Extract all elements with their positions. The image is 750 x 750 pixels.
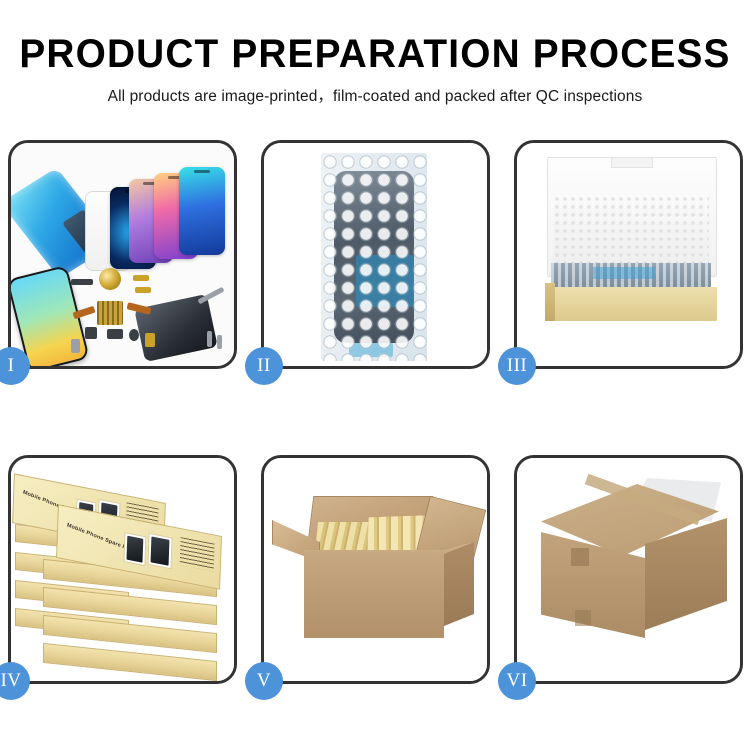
process-step-panel-1[interactable]: I [8, 140, 237, 369]
step-4-image: Mobile Phone Spare Parts Mobile Phone Sp… [11, 458, 234, 681]
step-badge-6: VI [498, 662, 536, 700]
speaker-coil-part [99, 268, 121, 290]
page-header: PRODUCT PREPARATION PROCESS All products… [0, 0, 750, 106]
screw-part-1 [207, 331, 212, 347]
kraft-box-spec-lines-front [180, 537, 215, 571]
step-1-image [11, 143, 234, 366]
step-badge-3: III [498, 347, 536, 385]
carton-tab-upper [571, 548, 589, 566]
phone-display-4 [179, 167, 225, 255]
bubble-wrap-highlights [321, 153, 427, 361]
carton-body-side [444, 542, 474, 626]
carton-tab-lower [575, 610, 591, 626]
mailer-box-base [545, 287, 717, 321]
step-6-image [517, 458, 740, 681]
spare-part-1 [71, 279, 93, 285]
process-step-panel-5[interactable]: V [261, 455, 490, 684]
process-step-panel-4[interactable]: Mobile Phone Spare Parts Mobile Phone Sp… [8, 455, 237, 684]
page-title: PRODUCT PREPARATION PROCESS [11, 0, 739, 75]
spare-part-6 [85, 327, 97, 339]
process-step-panel-3[interactable]: III [514, 140, 743, 369]
kraft-box-stack: Mobile Phone Spare Parts Mobile Phone Sp… [11, 458, 234, 681]
kraft-box-screen-front-1 [123, 532, 146, 566]
bubble-wrap-package [321, 153, 427, 361]
step-badge-2: II [245, 347, 283, 385]
process-step-panel-6[interactable]: VI [514, 455, 743, 684]
chip-grid-part [97, 301, 123, 325]
step-3-image [517, 143, 740, 366]
process-step-panel-2[interactable]: II [261, 140, 490, 369]
spare-part-2 [133, 275, 149, 281]
spare-part-3 [135, 287, 151, 293]
step-5-image [264, 458, 487, 681]
spare-part-10 [145, 333, 155, 347]
step-badge-5: V [245, 662, 283, 700]
page-subtitle: All products are image-printed，film-coat… [0, 75, 750, 106]
phone-back-housing [134, 294, 218, 362]
kraft-box-screen-front-2 [147, 533, 172, 569]
spare-part-8 [129, 329, 139, 341]
foam-liner [553, 195, 709, 267]
carton-body-front [304, 554, 444, 638]
mailer-box-side [545, 283, 555, 321]
spare-part-9 [71, 339, 80, 353]
screw-part-2 [217, 335, 222, 349]
spare-part-7 [107, 329, 123, 339]
process-steps-grid: I II III [8, 140, 742, 684]
step-2-image [264, 143, 487, 366]
